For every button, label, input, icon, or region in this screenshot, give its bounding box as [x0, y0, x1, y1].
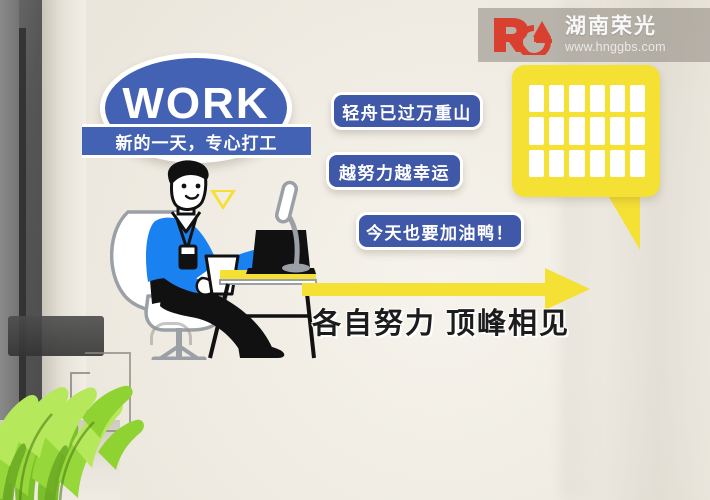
bubble-grid-cell	[610, 117, 625, 144]
footer-slogan: 各自努力 顶峰相见	[312, 300, 612, 342]
bubble-grid-cell	[630, 117, 645, 144]
bubble-grid-cell	[569, 85, 584, 112]
slogan-pill-2: 越努力越幸运	[326, 152, 463, 190]
page-title: WORK	[122, 79, 269, 129]
bubble-grid-cell	[549, 150, 564, 177]
bubble-grid-cell	[610, 150, 625, 177]
watermark-text: 湖南荣光 www.hnggbs.com	[565, 16, 666, 54]
man-working-illustration	[110, 160, 320, 360]
bubble-grid-cell	[529, 117, 544, 144]
rg-logo-icon	[490, 15, 556, 55]
bubble-grid-cell	[569, 117, 584, 144]
bubble-grid-cell	[610, 85, 625, 112]
speech-bubble	[512, 65, 660, 197]
poster-canvas: 湖南荣光 www.hnggbs.com WORK 新的一天，专心打工 轻舟已过万…	[0, 0, 710, 500]
bubble-grid-cell	[590, 150, 605, 177]
bubble-grid-cell	[529, 150, 544, 177]
plant-icon	[0, 332, 156, 500]
work-subtitle-text: 新的一天，专心打工	[116, 129, 278, 154]
wall-hook-icon	[150, 322, 192, 345]
slogan-pill-3: 今天也要加油鸭！	[356, 212, 524, 250]
bubble-grid-cell	[569, 150, 584, 177]
bubble-grid-cell	[529, 85, 544, 112]
slogan-pill-1: 轻舟已过万重山	[331, 92, 483, 130]
watermark-url: www.hnggbs.com	[565, 41, 666, 54]
bubble-grid-cell	[630, 85, 645, 112]
work-subtitle-banner: 新的一天，专心打工	[82, 124, 311, 158]
bubble-grid-cell	[590, 85, 605, 112]
progress-arrow-bar	[302, 283, 552, 296]
bubble-photo-grid	[529, 85, 645, 177]
watermark-brand: 湖南荣光	[565, 16, 666, 37]
bubble-grid-cell	[549, 85, 564, 112]
bubble-grid-cell	[549, 117, 564, 144]
watermark-bar: 湖南荣光 www.hnggbs.com	[478, 8, 710, 62]
speech-bubble-tail	[606, 192, 640, 250]
bubble-grid-cell	[630, 150, 645, 177]
bubble-grid-cell	[590, 117, 605, 144]
